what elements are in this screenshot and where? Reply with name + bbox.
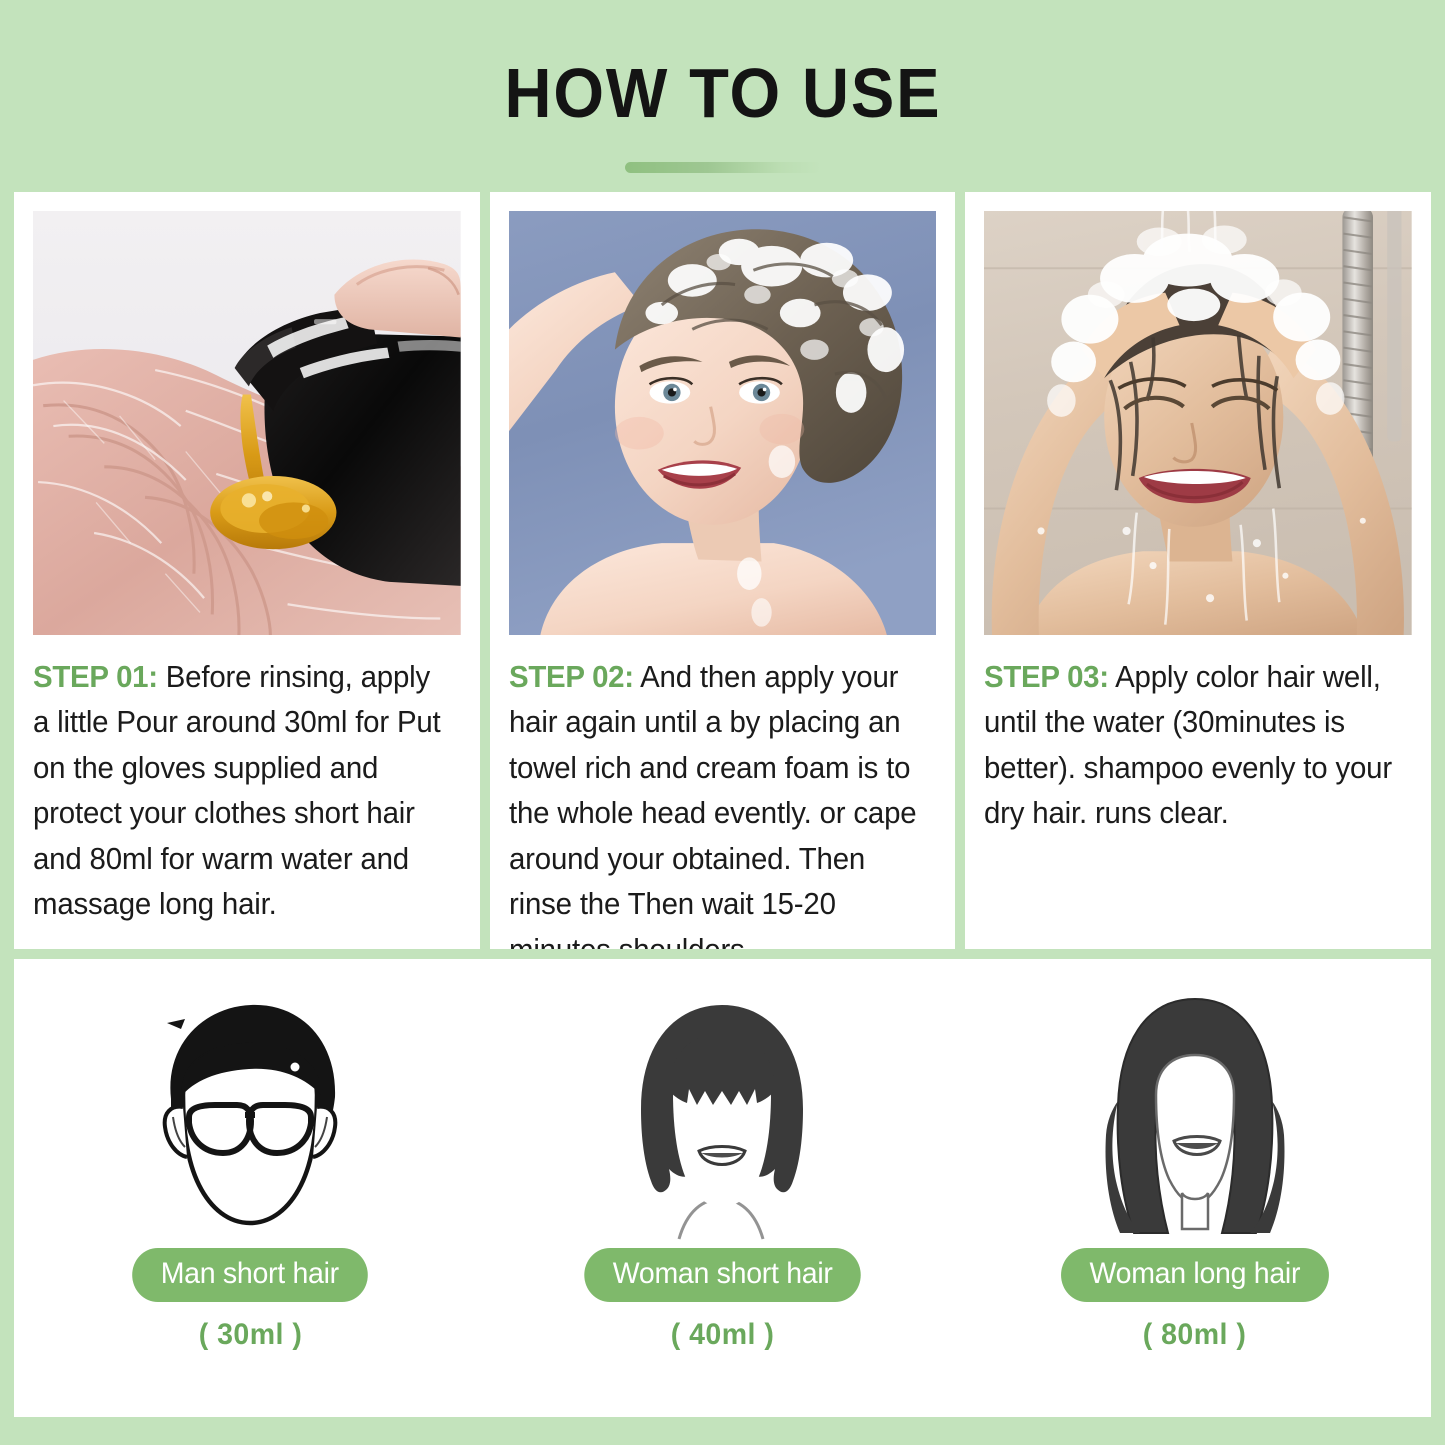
page-title: HOW TO USE [504, 58, 941, 128]
woman-short-hair-icon [617, 993, 827, 1243]
step-card-3: STEP 03: Apply color hair well, until th… [965, 192, 1431, 949]
step-1-body: Before rinsing, apply a little Pour arou… [33, 660, 441, 921]
oil-pour-on-glove-image [33, 211, 461, 635]
woman-long-hair-icon [1090, 993, 1300, 1243]
hair-type-panel: Man short hair ( 30ml ) Woman short hair… [14, 959, 1431, 1417]
title-underline-bar [625, 162, 821, 173]
hair-type-item-man-short: Man short hair ( 30ml ) [16, 985, 484, 1352]
steps-row: STEP 01: Before rinsing, apply a little … [14, 192, 1431, 949]
step-2-label: STEP 02: [509, 660, 634, 694]
page-header: HOW TO USE [0, 0, 1445, 192]
step-card-2: STEP 02: And then apply your hair again … [490, 192, 956, 949]
step-3-text: STEP 03: Apply color hair well, until th… [984, 655, 1397, 837]
step-1-label: STEP 01: [33, 660, 158, 694]
step-2-body: And then apply your hair again until a b… [509, 660, 916, 949]
step-1-text: STEP 01: Before rinsing, apply a little … [33, 655, 446, 928]
hair-type-badge-man-short[interactable]: Man short hair [133, 1248, 368, 1302]
step-card-1: STEP 01: Before rinsing, apply a little … [14, 192, 480, 949]
woman-short-hair-figure [595, 985, 850, 1243]
hair-type-amount-woman-long: ( 80ml ) [1143, 1318, 1247, 1352]
step-1-photo [33, 211, 461, 635]
man-short-hair-figure [123, 985, 378, 1243]
hair-type-amount-woman-short: ( 40ml ) [671, 1318, 775, 1352]
woman-long-hair-figure [1067, 985, 1322, 1243]
step-3-photo [984, 211, 1412, 635]
woman-rinsing-hair-shower-image [984, 211, 1412, 635]
step-3-label: STEP 03: [984, 660, 1109, 694]
step-2-text: STEP 02: And then apply your hair again … [509, 655, 922, 949]
step-2-photo [509, 211, 937, 635]
hair-type-badge-woman-short[interactable]: Woman short hair [584, 1248, 861, 1302]
hair-type-item-woman-long: Woman long hair ( 80ml ) [961, 985, 1429, 1352]
hair-type-badge-woman-long[interactable]: Woman long hair [1061, 1248, 1329, 1302]
man-short-hair-icon [145, 993, 355, 1243]
hair-type-amount-man-short: ( 30ml ) [198, 1318, 302, 1352]
hair-type-item-woman-short: Woman short hair ( 40ml ) [489, 985, 957, 1352]
woman-lathering-hair-image [509, 211, 937, 635]
